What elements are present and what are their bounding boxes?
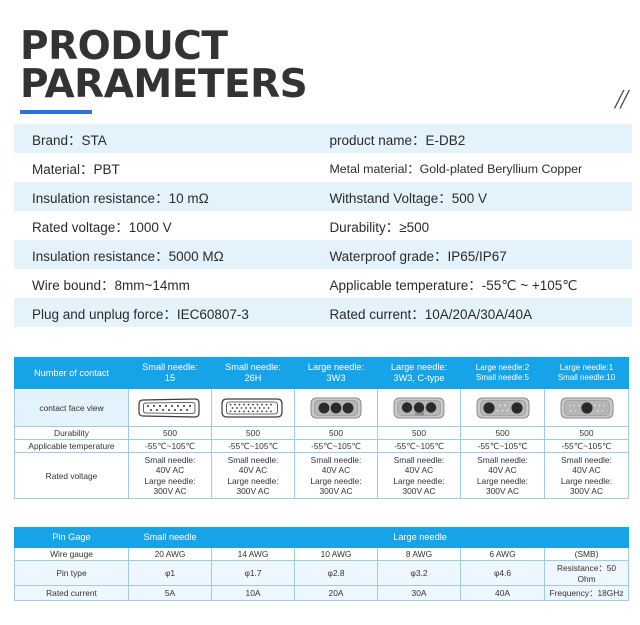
wire-gauge-value: 10 AWG xyxy=(295,548,378,561)
spec-left: Rated voltage：1000 V xyxy=(14,216,317,236)
row-label-rated-voltage: Rated voltage xyxy=(15,453,129,499)
header-pin-gage: Pin Gage xyxy=(15,528,129,548)
table-row: Rated voltage Small needle:40V ACLarge n… xyxy=(15,453,629,499)
rated-voltage-value: Small needle:40V ACLarge needle:300V AC xyxy=(212,453,295,499)
header-large-needle: Large needle xyxy=(212,528,629,548)
pin-type-value: φ1.7 xyxy=(212,561,295,586)
spec-left: Wire bound：8mm~14mm xyxy=(14,274,317,294)
table-row: Rated current 5A 10A 20A 30A 40A Frequen… xyxy=(15,586,629,601)
page-title: PRODUCT PARAMETERS xyxy=(20,28,620,114)
spec-left: Material：PBT xyxy=(14,158,317,178)
spec-list: Brand：STA product name：E-DB2 Material：PB… xyxy=(14,124,632,327)
table-header-row: Pin Gage Small needle Large needle xyxy=(15,528,629,548)
row-label-pin-type: Pin type xyxy=(15,561,129,586)
slash-decoration-icon: // xyxy=(615,84,626,115)
pin-type-value: φ1 xyxy=(129,561,212,586)
rated-current-value: 5A xyxy=(129,586,212,601)
temperature-value: -55℃~105℃ xyxy=(295,440,378,453)
spec-row: Rated voltage：1000 V Durability：≥500 xyxy=(14,211,632,240)
product-parameters-sheet: PRODUCT PARAMETERS // Brand：STA product … xyxy=(0,0,640,625)
combo-1-10-icon xyxy=(545,389,629,427)
rated-current-value: 40A xyxy=(461,586,545,601)
row-label-contact-face-view: contact face view xyxy=(15,389,129,427)
wire-gauge-value: 8 AWG xyxy=(378,548,461,561)
header-number-of-contact: Number of contact xyxy=(15,358,129,389)
spec-right: Applicable temperature：-55℃ ~ +105℃ xyxy=(317,274,632,294)
header-col-4: Large needle:3W3, C-type xyxy=(378,358,461,389)
dsub-26h-icon xyxy=(212,389,295,427)
spec-right: Waterproof grade：IP65/IP67 xyxy=(317,245,632,265)
spec-right: Rated current：10A/20A/30A/40A xyxy=(317,303,632,323)
table-row: Pin type φ1 φ1.7 φ2.8 φ3.2 φ4.6 Resistan… xyxy=(15,561,629,586)
pin-type-value: φ4.6 xyxy=(461,561,545,586)
spec-right: Durability：≥500 xyxy=(317,216,632,236)
table-row: Applicable temperature -55℃~105℃ -55℃~10… xyxy=(15,440,629,453)
header-col-3: Large needle:3W3 xyxy=(295,358,378,389)
wire-gauge-value: 14 AWG xyxy=(212,548,295,561)
temperature-value: -55℃~105℃ xyxy=(129,440,212,453)
header-col-5: Large needle:2Small needle:5 xyxy=(461,358,545,389)
spec-row: Brand：STA product name：E-DB2 xyxy=(14,124,632,153)
table-header-row: Number of contact Small needle:15 Small … xyxy=(15,358,629,389)
table-row: contact face view xyxy=(15,389,629,427)
row-label-durability: Durability xyxy=(15,427,129,440)
header-col-2: Small needle:26H xyxy=(212,358,295,389)
row-label-applicable-temperature: Applicable temperature xyxy=(15,440,129,453)
rated-voltage-value: Small needle:40V ACLarge needle:300V AC xyxy=(295,453,378,499)
rated-current-value: 30A xyxy=(378,586,461,601)
rated-voltage-value: Small needle:40V ACLarge needle:300V AC xyxy=(545,453,629,499)
temperature-value: -55℃~105℃ xyxy=(378,440,461,453)
rated-voltage-value: Small needle:40V ACLarge needle:300V AC xyxy=(378,453,461,499)
spec-left: Insulation resistance：5000 MΩ xyxy=(14,245,317,265)
table-row: Wire gauge 20 AWG 14 AWG 10 AWG 8 AWG 6 … xyxy=(15,548,629,561)
header-small-needle: Small needle xyxy=(129,528,212,548)
contacts-table: Number of contact Small needle:15 Small … xyxy=(14,357,629,499)
pin-type-value: φ2.8 xyxy=(295,561,378,586)
spec-left: Brand：STA xyxy=(14,129,317,149)
dsub-15-icon xyxy=(129,389,212,427)
spec-row: Material：PBT Metal material：Gold-plated … xyxy=(14,153,632,182)
rated-current-value: 20A xyxy=(295,586,378,601)
wire-gauge-value: 6 AWG xyxy=(461,548,545,561)
table-row: Durability 500 500 500 500 500 500 xyxy=(15,427,629,440)
rated-current-value: Frequency：18GHz xyxy=(545,586,629,601)
durability-value: 500 xyxy=(378,427,461,440)
temperature-value: -55℃~105℃ xyxy=(545,440,629,453)
temperature-value: -55℃~105℃ xyxy=(461,440,545,453)
spec-row: Wire bound：8mm~14mm Applicable temperatu… xyxy=(14,269,632,298)
power-3w3c-icon xyxy=(378,389,461,427)
spec-right: product name：E-DB2 xyxy=(317,129,632,149)
durability-value: 500 xyxy=(545,427,629,440)
spec-row: Insulation resistance：10 mΩ Withstand Vo… xyxy=(14,182,632,211)
pin-type-value: Resistance：50 Ohm xyxy=(545,561,629,586)
rated-current-value: 10A xyxy=(212,586,295,601)
row-label-rated-current: Rated current xyxy=(15,586,129,601)
pin-gage-table: Pin Gage Small needle Large needle Wire … xyxy=(14,527,629,601)
wire-gauge-value: 20 AWG xyxy=(129,548,212,561)
title-line-2: PARAMETERS xyxy=(20,66,620,104)
row-label-wire-gauge: Wire gauge xyxy=(15,548,129,561)
wire-gauge-value: (SMB) xyxy=(545,548,629,561)
spec-right: Withstand Voltage：500 V xyxy=(317,187,632,207)
power-3w3-icon xyxy=(295,389,378,427)
spec-left: Insulation resistance：10 mΩ xyxy=(14,187,317,207)
combo-2-5-icon xyxy=(461,389,545,427)
durability-value: 500 xyxy=(295,427,378,440)
header-col-1: Small needle:15 xyxy=(129,358,212,389)
durability-value: 500 xyxy=(461,427,545,440)
durability-value: 500 xyxy=(212,427,295,440)
header-col-6: Large needle:1Small needle:10 xyxy=(545,358,629,389)
rated-voltage-value: Small needle:40V ACLarge needle:300V AC xyxy=(129,453,212,499)
spec-left: Plug and unplug force：IEC60807-3 xyxy=(14,303,317,323)
pin-type-value: φ3.2 xyxy=(378,561,461,586)
spec-row: Insulation resistance：5000 MΩ Waterproof… xyxy=(14,240,632,269)
durability-value: 500 xyxy=(129,427,212,440)
spec-row: Plug and unplug force：IEC60807-3 Rated c… xyxy=(14,298,632,327)
rated-voltage-value: Small needle:40V ACLarge needle:300V AC xyxy=(461,453,545,499)
spec-right: Metal material：Gold-plated Beryllium Cop… xyxy=(317,159,632,177)
title-line-1: PRODUCT xyxy=(20,28,620,66)
temperature-value: -55℃~105℃ xyxy=(212,440,295,453)
title-underline xyxy=(20,110,92,114)
